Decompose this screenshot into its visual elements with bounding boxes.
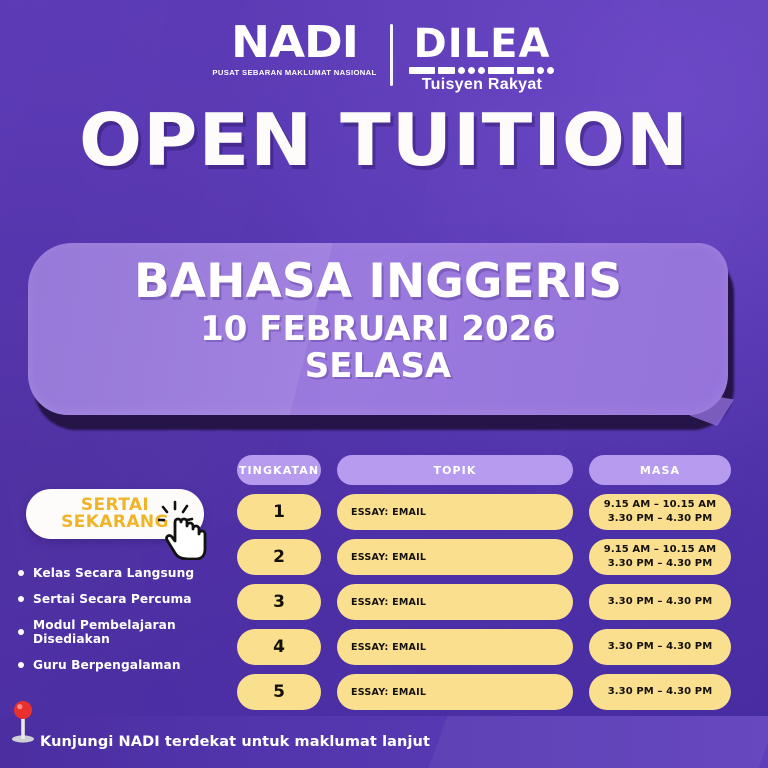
banner-date: 10 FEBRUARI 2026 — [28, 309, 728, 349]
bullet-dot-icon — [18, 596, 24, 602]
cell-topik: ESSAY: EMAIL — [337, 629, 573, 665]
masa-line: 9.15 AM – 10.15 AM — [604, 499, 716, 512]
cell-topik: ESSAY: EMAIL — [337, 674, 573, 710]
cell-masa: 9.15 AM – 10.15 AM 3.30 PM – 4.30 PM — [589, 539, 731, 575]
feature-label: Sertai Secara Percuma — [33, 592, 192, 606]
logo-divider — [390, 24, 393, 86]
bullet-dot-icon — [18, 570, 24, 576]
cell-tingkatan: 2 — [237, 539, 321, 575]
dilea-tagline: Tuisyen Rakyat — [409, 76, 554, 94]
page-title: OPEN TUITION — [0, 104, 768, 176]
poster-root: NADI PUSAT SEBARAN MAKLUMAT NASIONAL DIL… — [0, 0, 768, 768]
cell-tingkatan: 5 — [237, 674, 321, 710]
join-now-label: SERTAI SEKARANG — [61, 497, 169, 532]
list-item: Kelas Secara Langsung — [14, 566, 238, 580]
masa-line: 3.30 PM – 4.30 PM — [608, 558, 713, 571]
cell-tingkatan: 3 — [237, 584, 321, 620]
footer-gloss — [429, 716, 768, 768]
column-header-tingkatan: TINGKATAN — [237, 455, 321, 485]
features-list: Kelas Secara Langsung Sertai Secara Perc… — [14, 566, 238, 684]
masa-line: 3.30 PM – 4.30 PM — [608, 641, 713, 654]
cta-line-2: SEKARANG — [61, 514, 169, 531]
column-header-topik: TOPIK — [337, 455, 573, 485]
cell-tingkatan: 1 — [237, 494, 321, 530]
table-row: 1 ESSAY: EMAIL 9.15 AM – 10.15 AM 3.30 P… — [237, 494, 731, 530]
masa-line: 3.30 PM – 4.30 PM — [608, 596, 713, 609]
cell-masa: 3.30 PM – 4.30 PM — [589, 629, 731, 665]
nadi-tagline: PUSAT SEBARAN MAKLUMAT NASIONAL — [212, 68, 376, 77]
dilea-morse-pattern — [409, 67, 554, 74]
bullet-dot-icon — [18, 662, 24, 668]
logo-bar: NADI PUSAT SEBARAN MAKLUMAT NASIONAL DIL… — [0, 22, 768, 94]
list-item: Modul Pembelajaran Disediakan — [14, 618, 238, 646]
bullet-dot-icon — [18, 629, 24, 635]
column-header-masa: MASA — [589, 455, 731, 485]
table-row: 4 ESSAY: EMAIL 3.30 PM – 4.30 PM — [237, 629, 731, 665]
table-row: 2 ESSAY: EMAIL 9.15 AM – 10.15 AM 3.30 P… — [237, 539, 731, 575]
table-row: 5 ESSAY: EMAIL 3.30 PM – 4.30 PM — [237, 674, 731, 710]
dilea-logo: DILEA Tuisyen Rakyat — [409, 22, 554, 94]
nadi-logo: NADI PUSAT SEBARAN MAKLUMAT NASIONAL — [214, 22, 391, 77]
map-pin-icon — [8, 698, 38, 744]
list-item: Guru Berpengalaman — [14, 658, 238, 672]
footer-text: Kunjungi NADI terdekat untuk maklumat la… — [40, 734, 430, 750]
table-row: 3 ESSAY: EMAIL 3.30 PM – 4.30 PM — [237, 584, 731, 620]
list-item: Sertai Secara Percuma — [14, 592, 238, 606]
table-header-row: TINGKATAN TOPIK MASA — [237, 455, 731, 485]
cell-tingkatan: 4 — [237, 629, 321, 665]
cell-topik: ESSAY: EMAIL — [337, 494, 573, 530]
cell-masa: 3.30 PM – 4.30 PM — [589, 584, 731, 620]
nadi-wordmark: NADI — [209, 22, 380, 64]
masa-line: 9.15 AM – 10.15 AM — [604, 544, 716, 557]
masa-line: 3.30 PM – 4.30 PM — [608, 513, 713, 526]
dilea-wordmark: DILEA — [409, 24, 554, 64]
cell-topik: ESSAY: EMAIL — [337, 539, 573, 575]
cell-topik: ESSAY: EMAIL — [337, 584, 573, 620]
cell-masa: 3.30 PM – 4.30 PM — [589, 674, 731, 710]
footer-bar: Kunjungi NADI terdekat untuk maklumat la… — [0, 716, 768, 768]
cell-masa: 9.15 AM – 10.15 AM 3.30 PM – 4.30 PM — [589, 494, 731, 530]
banner-day: SELASA — [28, 349, 728, 385]
banner-card: BAHASA INGGERIS 10 FEBRUARI 2026 SELASA — [28, 243, 728, 415]
masa-line: 3.30 PM – 4.30 PM — [608, 686, 713, 699]
feature-label: Modul Pembelajaran Disediakan — [33, 618, 238, 646]
schedule-table: TINGKATAN TOPIK MASA 1 ESSAY: EMAIL 9.15… — [237, 455, 731, 719]
feature-label: Kelas Secara Langsung — [33, 566, 194, 580]
hand-pointer-icon — [158, 498, 214, 560]
feature-label: Guru Berpengalaman — [33, 658, 181, 672]
banner-subject: BAHASA INGGERIS — [28, 257, 728, 307]
